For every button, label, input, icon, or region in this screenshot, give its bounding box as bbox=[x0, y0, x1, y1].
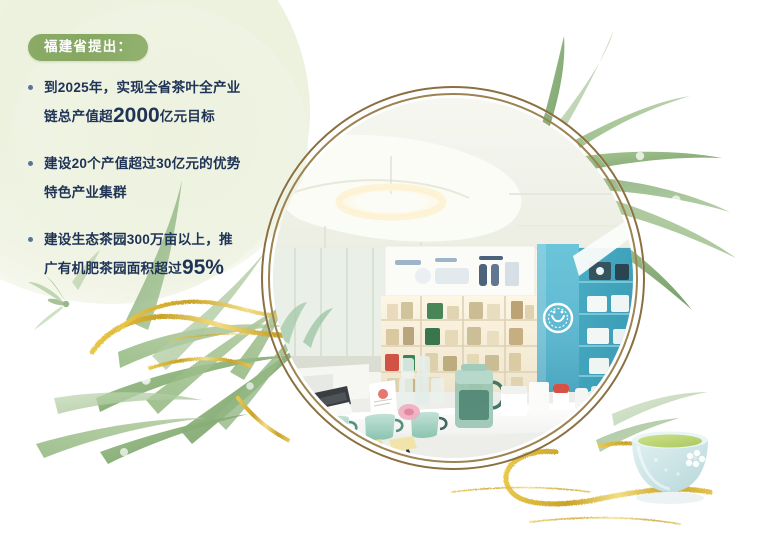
photo-image bbox=[273, 98, 633, 458]
info-panel: 福建省提出： 到2025年，实现全省茶叶全产业 链总产值超2000亿元目标 建设… bbox=[28, 34, 290, 285]
panel-title-badge: 福建省提出： bbox=[28, 34, 148, 61]
bullet-dot-icon bbox=[28, 237, 33, 242]
store-interior-illustration bbox=[273, 98, 633, 458]
bullet-highlight-value: 95% bbox=[182, 256, 224, 279]
bullet-line-2-pre: 特色产业集群 bbox=[44, 185, 127, 200]
bullet-line-2-pre: 广有机肥茶园面积超过 bbox=[44, 261, 182, 276]
bullet-highlight-value: 2000 bbox=[113, 104, 160, 127]
poster-canvas: 福建省提出： 到2025年，实现全省茶叶全产业 链总产值超2000亿元目标 建设… bbox=[0, 0, 768, 556]
bullet-line-1: 建设20个产值超过30亿元的优势 bbox=[44, 156, 241, 171]
bullet-line-2-pre: 链总产值超 bbox=[44, 109, 113, 124]
bullet-item-ecological-gardens: 建设生态茶园300万亩以上，推 广有机肥茶园面积超过95% bbox=[28, 229, 290, 285]
bullet-dot-icon bbox=[28, 85, 33, 90]
circular-photo bbox=[261, 86, 645, 470]
bullet-item-industry-clusters: 建设20个产值超过30亿元的优势 特色产业集群 bbox=[28, 153, 290, 209]
bullet-item-target-2025: 到2025年，实现全省茶叶全产业 链总产值超2000亿元目标 bbox=[28, 77, 290, 133]
teacup-decoration bbox=[612, 412, 728, 508]
bullet-line-2-post: 亿元目标 bbox=[160, 109, 215, 124]
bullet-line-1: 到2025年，实现全省茶叶全产业 bbox=[44, 80, 241, 95]
bullet-line-1: 建设生态茶园300万亩以上，推 bbox=[44, 232, 233, 247]
bullet-dot-icon bbox=[28, 161, 33, 166]
bullet-list: 到2025年，实现全省茶叶全产业 链总产值超2000亿元目标 建设20个产值超过… bbox=[28, 77, 290, 285]
